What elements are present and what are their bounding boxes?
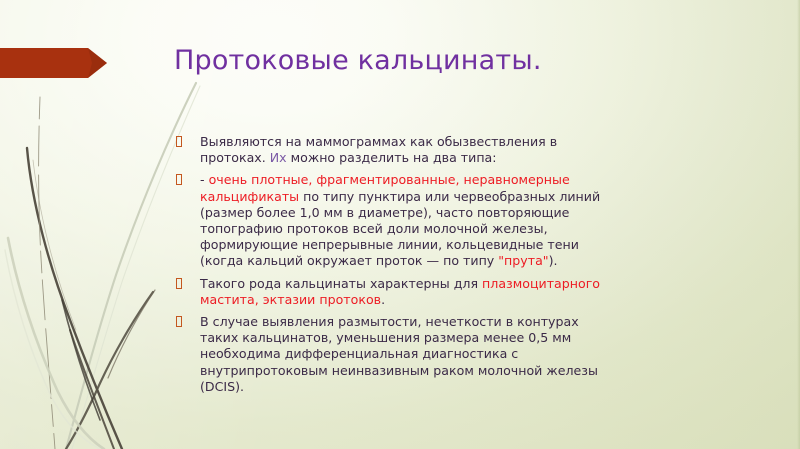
- slide-body: Выявляются на маммограммах как обызвеств…: [174, 134, 610, 401]
- bullet-segment-highlight: Их: [270, 150, 287, 165]
- bullet-segment-highlight: "прута": [498, 253, 548, 268]
- slide-title: Протоковые кальцинаты.: [174, 44, 774, 78]
- tofu-box-icon: [176, 174, 182, 185]
- slide-canvas: Протоковые кальцинаты. Выявляются на мам…: [0, 0, 800, 449]
- bullet-segment: ).: [549, 253, 558, 268]
- bullet-segment: можно разделить на два типа:: [287, 150, 497, 165]
- tofu-box-icon: [176, 278, 182, 289]
- bullet-text-2: - очень плотные, фрагментированные, нера…: [200, 172, 610, 269]
- bullet-segment: Такого рода кальцинаты характерны для: [200, 276, 482, 291]
- bullet-segment: -: [200, 172, 209, 187]
- list-item[interactable]: В случае выявления размытости, нечеткост…: [174, 314, 610, 395]
- bullet-text-4: В случае выявления размытости, нечеткост…: [200, 314, 610, 395]
- bullet-text-3: Такого рода кальцинаты характерны для пл…: [200, 276, 610, 308]
- tofu-box-icon: [176, 316, 182, 327]
- bullet-text-1: Выявляются на маммограммах как обызвеств…: [200, 134, 610, 166]
- list-item[interactable]: Выявляются на маммограммах как обызвеств…: [174, 134, 610, 166]
- bullet-segment: В случае выявления размытости, нечеткост…: [200, 314, 598, 394]
- list-item[interactable]: - очень плотные, фрагментированные, нера…: [174, 172, 610, 269]
- accent-arrow-banner: [0, 47, 108, 79]
- tofu-box-icon: [176, 136, 182, 147]
- bullet-segment: .: [381, 292, 385, 307]
- list-item[interactable]: Такого рода кальцинаты характерны для пл…: [174, 276, 610, 308]
